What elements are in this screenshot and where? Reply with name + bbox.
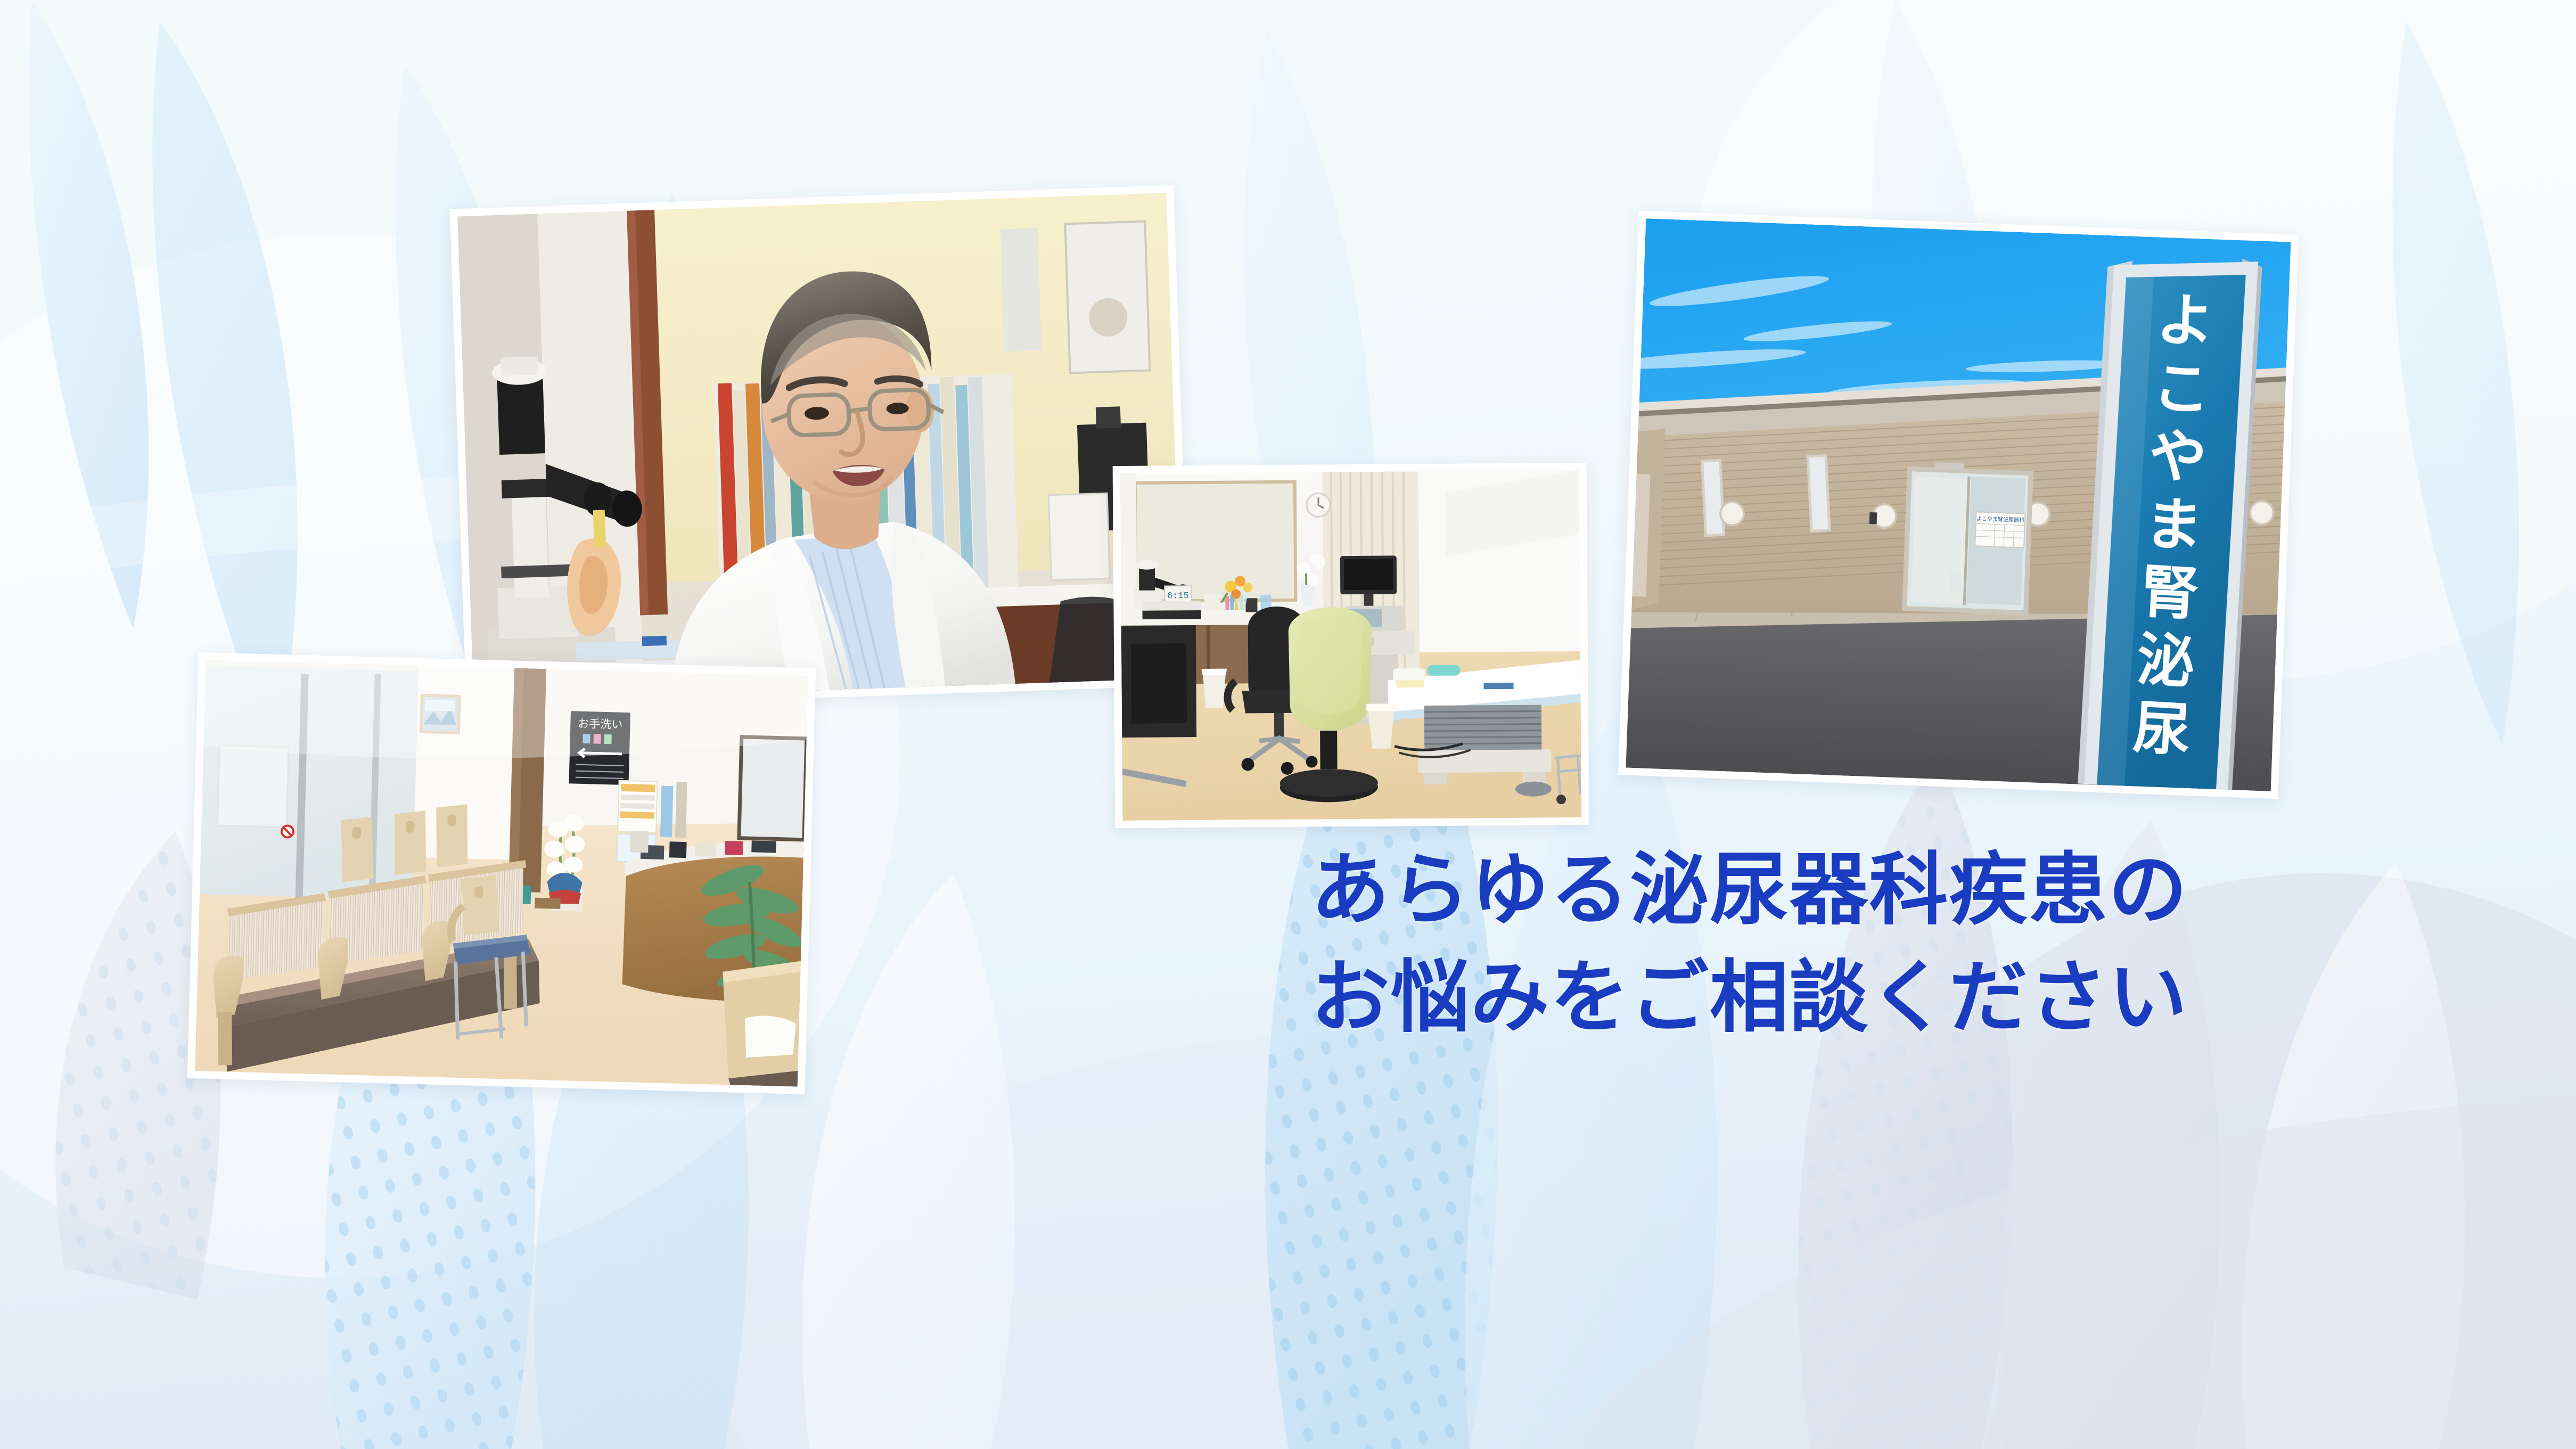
waiting-room-image: お手洗い bbox=[195, 660, 808, 1086]
svg-text:こ: こ bbox=[2151, 355, 2212, 422]
doctor-portrait-image bbox=[457, 193, 1183, 702]
waiting-room-photo[interactable]: お手洗い bbox=[187, 652, 816, 1094]
headline-line-2: お悩みをご相談ください bbox=[1311, 947, 2188, 1049]
headline-line-1: あらゆる泌尿器科疾患の bbox=[1311, 839, 2188, 942]
svg-text:6:15: 6:15 bbox=[1167, 591, 1189, 601]
clinic-exterior-sign-photo[interactable]: よこやま腎泌尿器科 bbox=[1618, 211, 2299, 799]
clinic-exterior-image: よこやま腎泌尿器科 bbox=[1626, 218, 2291, 791]
svg-text:腎: 腎 bbox=[2139, 559, 2201, 627]
svg-text:泌: 泌 bbox=[2135, 627, 2196, 695]
svg-text:よ: よ bbox=[2155, 287, 2216, 355]
examination-room-photo[interactable]: 6:15 bbox=[1113, 463, 1589, 828]
examination-room-image: 6:15 bbox=[1120, 470, 1582, 821]
hero-banner: 6:15 bbox=[0, 0, 2576, 1449]
svg-text:や: や bbox=[2147, 423, 2208, 490]
svg-text:尿: 尿 bbox=[2131, 695, 2193, 763]
hero-headline: あらゆる泌尿器科疾患の お悩みをご相談ください bbox=[1311, 839, 2188, 1050]
doctor-portrait-photo[interactable] bbox=[450, 185, 1190, 710]
svg-text:ま: ま bbox=[2143, 491, 2204, 559]
